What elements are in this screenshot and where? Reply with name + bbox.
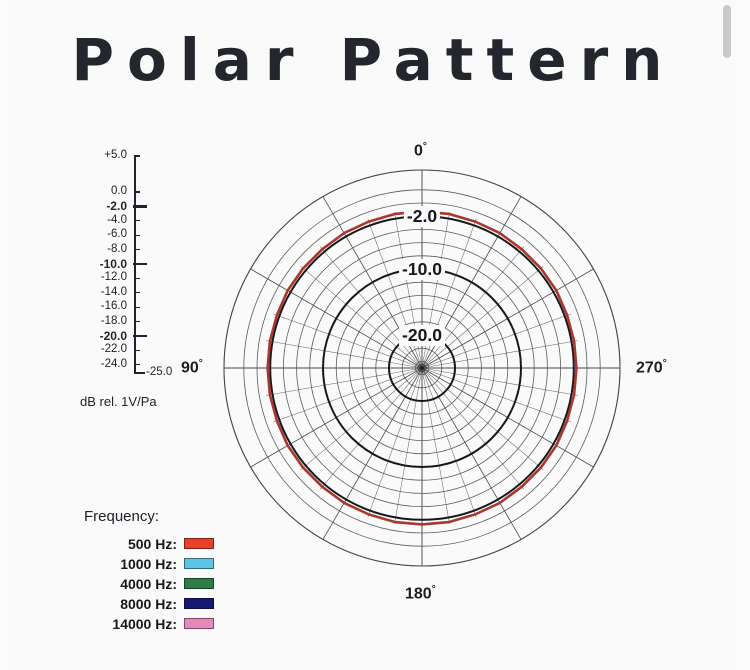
page-background: Polar Pattern +5.00.0-2.0-4.0-6.0-8.0-10…: [0, 0, 750, 670]
angle-label-90: 90°: [181, 358, 203, 377]
legend-item-8000hz[interactable]: 8000 Hz:: [72, 594, 262, 613]
db-tick--18-0: [134, 321, 140, 322]
polar-spoke-160: [422, 368, 476, 517]
ring-label--2-0: -2.0: [404, 206, 440, 227]
db-scale-axis: +5.00.0-2.0-4.0-6.0-8.0-10.0-12.0-14.0-1…: [72, 148, 192, 383]
legend-swatch-14000hz: [184, 618, 214, 629]
db-tick-label--14-0: -14.0: [74, 287, 130, 299]
polar-spoke-310: [301, 266, 422, 368]
db-tick-label-0-0: 0.0: [74, 186, 130, 198]
db-tick-label--20-0: -20.0: [74, 330, 130, 342]
db-tick--2-0: [133, 205, 147, 207]
db-tick-label--18-0: -18.0: [74, 316, 130, 328]
scrollbar-track[interactable]: [731, 0, 741, 670]
polar-plot: 0° 90° 180° 270° -2.0-10.0-20.0: [192, 138, 662, 608]
db-axis-foot: [134, 372, 145, 374]
legend-label-500hz: 500 Hz:: [72, 536, 184, 552]
db-tick--4-0: [134, 220, 140, 221]
legend-item-4000hz[interactable]: 4000 Hz:: [72, 574, 262, 593]
db-tick-label--8-0: -8.0: [74, 244, 130, 256]
polar-spoke-140: [422, 368, 524, 489]
legend-swatch-4000hz: [184, 578, 214, 589]
db-tick--12-0: [134, 278, 140, 279]
db-tick-label--4-0: -4.0: [74, 215, 130, 227]
degree-symbol: °: [423, 141, 427, 152]
content-area: Polar Pattern +5.00.0-2.0-4.0-6.0-8.0-10…: [10, 0, 737, 670]
legend-swatch-8000hz: [184, 598, 214, 609]
polar-spoke-200: [368, 368, 422, 517]
legend-label-4000hz: 4000 Hz:: [72, 576, 184, 592]
angle-label-0: 0°: [414, 141, 427, 160]
degree-symbol: °: [663, 358, 667, 369]
legend-label-8000hz: 8000 Hz:: [72, 596, 184, 612]
db-axis-min-label: -25.0: [146, 366, 172, 378]
scrollbar-thumb[interactable]: [723, 5, 731, 58]
polar-spoke-250: [273, 368, 422, 422]
db-tick-label--24-0: -24.0: [74, 359, 130, 371]
legend-title: Frequency:: [72, 508, 262, 525]
db-tick-label--6-0: -6.0: [74, 229, 130, 241]
db-tick-label--10-0: -10.0: [74, 258, 130, 270]
legend-label-1000hz: 1000 Hz:: [72, 556, 184, 572]
angle-label-180: 180°: [405, 584, 436, 603]
db-tick--20-0: [133, 335, 147, 337]
db-tick-label-+5-0: +5.0: [74, 150, 130, 162]
degree-symbol: °: [199, 358, 203, 369]
db-tick-label--16-0: -16.0: [74, 301, 130, 313]
db-tick--10-0: [133, 263, 147, 265]
polar-spoke-110: [422, 368, 571, 422]
db-tick-label--2-0: -2.0: [74, 200, 130, 212]
polar-origin-center: [420, 366, 424, 370]
db-axis-caption: dB rel. 1V/Pa: [80, 394, 157, 409]
legend-item-500hz[interactable]: 500 Hz:: [72, 534, 262, 553]
polar-spoke-50: [422, 266, 543, 368]
legend-swatch-500hz: [184, 538, 214, 549]
angle-label-270: 270°: [636, 358, 667, 377]
db-tick-label--22-0: -22.0: [74, 344, 130, 356]
db-tick--24-0: [134, 364, 140, 365]
page-title: Polar Pattern: [10, 26, 737, 94]
legend-item-1000hz[interactable]: 1000 Hz:: [72, 554, 262, 573]
degree-symbol: °: [432, 584, 436, 595]
db-tick--14-0: [134, 292, 140, 293]
db-tick-label--12-0: -12.0: [74, 272, 130, 284]
db-tick-0-0: [134, 191, 140, 192]
ring-label--10-0: -10.0: [399, 259, 445, 280]
db-tick--16-0: [134, 307, 140, 308]
db-tick--8-0: [134, 249, 140, 250]
polar-spoke-220: [320, 368, 422, 489]
db-tick-+5-0: [134, 155, 140, 156]
legend-label-14000hz: 14000 Hz:: [72, 616, 184, 632]
legend: Frequency: 500 Hz:1000 Hz:4000 Hz:8000 H…: [72, 508, 262, 634]
legend-swatch-1000hz: [184, 558, 214, 569]
db-tick--22-0: [134, 350, 140, 351]
ring-label--20-0: -20.0: [399, 325, 445, 346]
polar-spoke-130: [422, 368, 543, 470]
polar-spoke-230: [301, 368, 422, 470]
legend-item-14000hz[interactable]: 14000 Hz:: [72, 614, 262, 633]
db-tick--6-0: [134, 235, 140, 236]
legend-rows: 500 Hz:1000 Hz:4000 Hz:8000 Hz:14000 Hz:: [72, 534, 262, 633]
